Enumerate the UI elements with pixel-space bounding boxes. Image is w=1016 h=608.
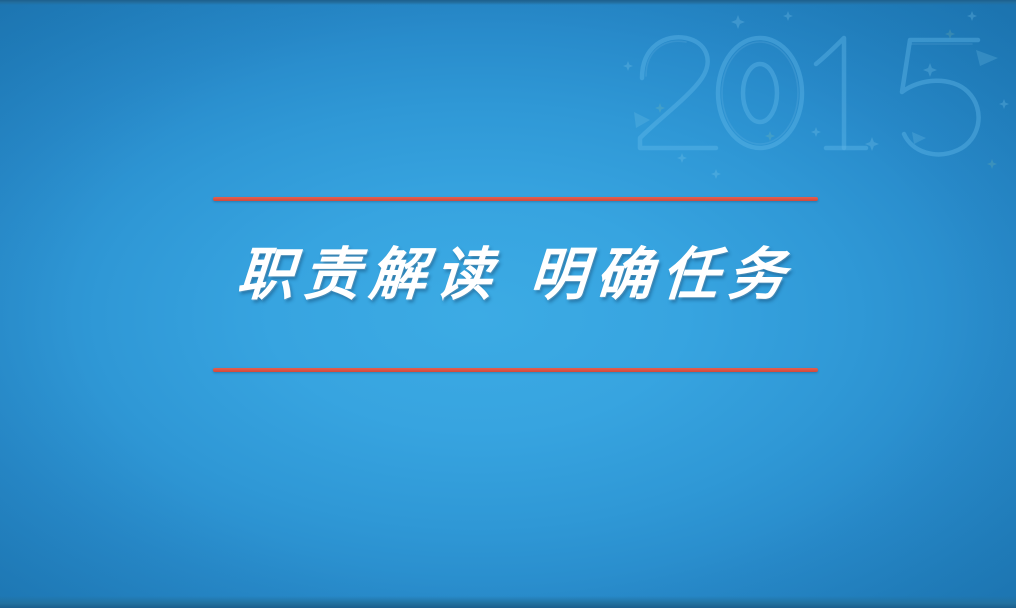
bottom-divider-rule (213, 368, 818, 372)
page-title: 职责解读 明确任务 (210, 238, 820, 312)
top-divider-rule (213, 197, 818, 201)
slide-canvas: 职责解读 明确任务 (0, 0, 1016, 608)
title-block: 职责解读 明确任务 (213, 0, 818, 608)
